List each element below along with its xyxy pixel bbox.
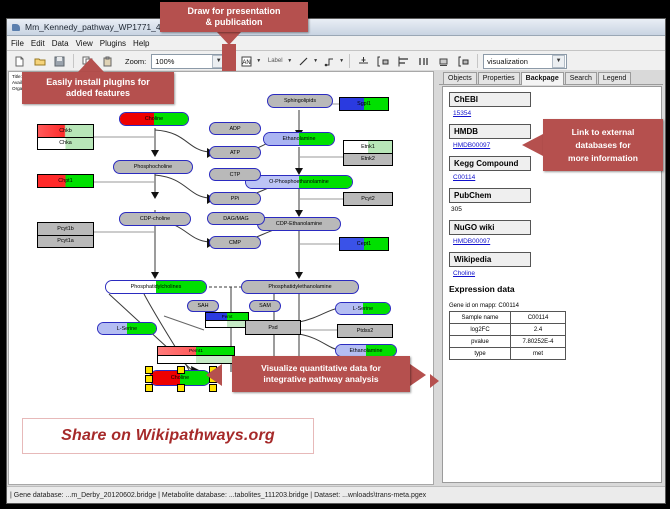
db-header-kegg: Kegg Compound <box>449 156 531 171</box>
db-link-chebi[interactable]: 15354 <box>453 110 661 117</box>
node-label: PPi <box>231 196 239 202</box>
callout-plugins-line1: Easily install plugins for <box>46 77 150 88</box>
gene-label-chka: Chka <box>59 140 72 146</box>
callout-draw-arrow-stem <box>222 44 236 71</box>
node-label: ATP <box>230 150 240 156</box>
gene-label: Cept1 <box>357 241 371 247</box>
gene-box-psd[interactable]: Psd <box>245 320 301 335</box>
gene-label-etnk1: Etnk1 <box>361 144 375 150</box>
gene-label: Psd <box>268 325 277 331</box>
chevron-down-icon-6[interactable]: ▼ <box>552 55 565 68</box>
gene-box-pemt-top[interactable]: Pemt <box>205 312 249 328</box>
menu-bar: File Edit Data View Plugins Help <box>7 36 665 51</box>
node-ctp[interactable]: CTP <box>209 168 261 181</box>
db-header-pubchem: PubChem <box>449 188 531 203</box>
node-label: Phosphatidylcholines <box>131 284 182 290</box>
side-panel-tabs: Objects Properties Backpage Search Legen… <box>439 71 663 85</box>
node-label: CDP-choline <box>140 216 170 222</box>
callout-visualize-arrow-left-icon <box>206 364 222 386</box>
resize-handle-w[interactable] <box>145 375 153 383</box>
gene-label: Pcyt2 <box>361 196 374 202</box>
callout-expression-arrow-icon <box>430 374 439 388</box>
gene-label: Pemt <box>222 314 233 319</box>
toolbar-separator-4 <box>477 54 478 68</box>
db-header-chebi: ChEBI <box>449 92 531 107</box>
callout-link: Link to external databases for more info… <box>543 119 663 171</box>
cell-value: 7.80252E-4 <box>511 336 566 348</box>
cell-value: 2.4 <box>511 324 566 336</box>
bracket-icon[interactable] <box>375 53 392 70</box>
title-bar: Mm_Kennedy_pathway_WP1771_45176.gpml <box>7 19 665 36</box>
status-bar: | Gene database: ...m_Derby_20120602.bri… <box>7 486 665 503</box>
db-header-nugo: NuGO wiki <box>449 220 531 235</box>
callout-draw-line2: & publication <box>206 17 263 28</box>
zoom-label: Zoom: <box>125 57 146 66</box>
toolbar-separator <box>73 54 74 68</box>
node-label: L-Serine <box>117 326 137 332</box>
callout-visualize-arrow-right-icon <box>410 364 426 386</box>
chevron-down-icon-3[interactable]: ▼ <box>287 58 292 64</box>
node-atp[interactable]: ATP <box>209 146 261 159</box>
chevron-down-icon-2[interactable]: ▼ <box>256 58 261 64</box>
gene-box-etnk[interactable]: Etnk1 Etnk2 <box>343 140 393 166</box>
node-label: Phosphatidylethanolamine <box>268 284 331 290</box>
node-sphingolipids[interactable]: Sphingolipids <box>267 94 333 108</box>
node-phosphatidylcholines[interactable]: Phosphatidylcholines <box>105 280 207 294</box>
line-icon[interactable] <box>295 53 312 70</box>
resize-handle-s[interactable] <box>177 384 185 392</box>
label-tool[interactable]: Label <box>264 53 286 70</box>
node-label: Sphingolipids <box>284 98 316 104</box>
callout-share: Share on Wikipathways.org <box>22 418 314 454</box>
gene-label-etnk2: Etnk2 <box>361 156 375 162</box>
node-label: Choline <box>171 375 189 381</box>
callout-plugins-arrow-icon <box>78 58 104 72</box>
gene-box-pemt-bottom[interactable]: Pemt1 <box>157 346 235 364</box>
node-label: DAG/MAG <box>223 216 248 222</box>
node-label: Phosphocholine <box>134 164 172 170</box>
tab-backpage[interactable]: Backpage <box>521 72 564 85</box>
svg-text:AN: AN <box>243 60 251 66</box>
visualization-combo[interactable]: visualization ▼ <box>483 54 567 69</box>
node-label: CTP <box>230 172 241 178</box>
gene-label: Ptdss2 <box>357 328 373 334</box>
menu-item-data[interactable]: Data <box>52 39 69 48</box>
callout-visualize: Visualize quantitative data for integrat… <box>232 356 410 392</box>
chevron-down-icon-4[interactable]: ▼ <box>313 58 318 64</box>
db-link-kegg[interactable]: C00114 <box>453 174 661 181</box>
menu-item-edit[interactable]: Edit <box>31 39 45 48</box>
node-sam[interactable]: SAM <box>249 300 281 312</box>
callout-draw-arrow-icon <box>216 31 242 45</box>
cell-value: C00114 <box>511 312 566 324</box>
callout-draw: Draw for presentation & publication <box>160 2 308 32</box>
callout-link-arrow-icon <box>522 134 543 156</box>
callout-draw-line1: Draw for presentation <box>187 6 280 17</box>
node-phosphocholine[interactable]: Phosphocholine <box>113 160 193 174</box>
cell-key: pvalue <box>450 336 511 348</box>
align-icon[interactable] <box>395 53 412 70</box>
open-folder-icon[interactable] <box>31 53 48 70</box>
node-label: L-Serine <box>353 306 373 312</box>
table-row: Sample name C00114 <box>450 312 566 324</box>
stack-icon[interactable] <box>435 53 452 70</box>
gene-box-sgpl1[interactable]: Sgpl1 <box>339 97 389 111</box>
connector-icon[interactable] <box>321 53 338 70</box>
db-header-wikipedia: Wikipedia <box>449 252 531 267</box>
node-l-serine-left[interactable]: L-Serine <box>97 322 157 335</box>
db-value-pubchem: 305 <box>451 206 661 213</box>
node-label: Ethanolamine <box>283 136 316 142</box>
node-sah[interactable]: SAH <box>187 300 219 312</box>
expression-data-title: Expression data <box>449 284 661 294</box>
node-label: CDP-Ethanolamine <box>276 221 322 227</box>
resize-handle-n[interactable] <box>177 366 185 374</box>
node-label: Ethanolamine <box>350 348 383 354</box>
gene-label-pcyt1a: Pcyt1a <box>57 238 73 244</box>
node-label: SAM <box>259 303 271 309</box>
node-label: ADP <box>229 126 240 132</box>
gene-box-chk[interactable]: Chkb Chka <box>37 124 94 150</box>
node-ethanolamine-top[interactable]: Ethanolamine <box>263 132 335 146</box>
node-label: O-Phosphoethanolamine <box>269 179 329 185</box>
tab-search[interactable]: Search <box>565 72 597 84</box>
node-adp[interactable]: ADP <box>209 122 261 135</box>
status-text: | Gene database: ...m_Derby_20120602.bri… <box>7 492 426 499</box>
cell-value: met <box>511 348 566 360</box>
gene-box-cept1[interactable]: Cept1 <box>339 237 389 251</box>
menu-item-file[interactable]: File <box>11 39 24 48</box>
group-icon[interactable] <box>455 53 472 70</box>
save-icon[interactable] <box>51 53 68 70</box>
gene-label: Chpt1 <box>58 178 72 184</box>
callout-link-line3: more information <box>568 152 638 165</box>
callout-link-line1: Link to external <box>572 126 635 139</box>
gene-box-pcyt2[interactable]: Pcyt2 <box>343 192 393 206</box>
callout-plugins: Easily install plugins for added feature… <box>22 72 174 104</box>
table-row: type met <box>450 348 566 360</box>
pathvisio-icon <box>11 22 22 33</box>
cell-key: type <box>450 348 511 360</box>
node-l-serine-right[interactable]: L-Serine <box>335 302 391 315</box>
gene-label: Pemt1 <box>189 349 203 354</box>
toolbar: Zoom: 100% ▼ AN ▼ Label ▼ ▼ <box>7 51 665 72</box>
gene-box-ptdss2[interactable]: Ptdss2 <box>337 324 393 338</box>
node-cdp-choline[interactable]: CDP-choline <box>119 212 191 226</box>
node-ppi[interactable]: PPi <box>209 192 261 205</box>
screenshot-root: Mm_Kennedy_pathway_WP1771_45176.gpml Fil… <box>0 0 670 509</box>
node-label: Choline <box>145 116 163 122</box>
tab-properties[interactable]: Properties <box>478 72 520 84</box>
resize-handle-nw[interactable] <box>145 366 153 374</box>
db-link-wikipedia[interactable]: Choline <box>453 270 661 277</box>
menu-item-help[interactable]: Help <box>133 39 149 48</box>
visualization-value: visualization <box>487 57 528 66</box>
callout-plugins-line2: added features <box>66 88 130 99</box>
zoom-value: 100% <box>155 57 174 66</box>
node-o-phosphoethanolamine[interactable]: O-Phosphoethanolamine <box>245 175 353 189</box>
gene-box-chpt1[interactable]: Chpt1 <box>37 174 94 188</box>
menu-item-plugins[interactable]: Plugins <box>100 39 126 48</box>
anchor-icon[interactable] <box>355 53 372 70</box>
menu-item-view[interactable]: View <box>76 39 93 48</box>
callout-share-text: Share on Wikipathways.org <box>61 427 275 445</box>
tab-objects[interactable]: Objects <box>443 72 477 84</box>
expression-data-table: Sample name C00114 log2FC 2.4 pvalue 7.8… <box>449 311 566 360</box>
new-file-icon[interactable] <box>11 53 28 70</box>
cell-key: Sample name <box>450 312 511 324</box>
gene-label: Sgpl1 <box>357 101 371 107</box>
gene-box-pcyt1[interactable]: Pcyt1b Pcyt1a <box>37 222 94 248</box>
gene-id-line: Gene id on mapp: C00114 <box>449 303 661 309</box>
chevron-down-icon-5[interactable]: ▼ <box>339 58 344 64</box>
callout-link-line2: databases for <box>575 139 630 152</box>
gene-label-pcyt1b: Pcyt1b <box>57 226 73 232</box>
node-choline-top[interactable]: Choline <box>119 112 189 126</box>
text-label-icon[interactable]: AN <box>238 53 255 70</box>
table-row: log2FC 2.4 <box>450 324 566 336</box>
zoom-combo[interactable]: 100% ▼ <box>151 54 227 69</box>
node-cdp-ethanolamine[interactable]: CDP-Ethanolamine <box>257 217 341 231</box>
resize-handle-sw[interactable] <box>145 384 153 392</box>
callout-visualize-line1: Visualize quantitative data for <box>261 363 381 374</box>
node-label: CMP <box>229 240 241 246</box>
toolbar-separator-3 <box>349 54 350 68</box>
db-link-nugo[interactable]: HMDB00097 <box>453 238 661 245</box>
cell-key: log2FC <box>450 324 511 336</box>
tab-legend[interactable]: Legend <box>598 72 631 84</box>
distribute-icon[interactable] <box>415 53 432 70</box>
node-dagmag[interactable]: DAG/MAG <box>207 212 265 225</box>
callout-visualize-line2: integrative pathway analysis <box>263 374 378 385</box>
node-cmp[interactable]: CMP <box>209 236 261 249</box>
node-label: SAH <box>197 303 208 309</box>
node-phosphatidylethanolamine[interactable]: Phosphatidylethanolamine <box>241 280 359 294</box>
table-row: pvalue 7.80252E-4 <box>450 336 566 348</box>
node-choline-selected[interactable]: Choline <box>149 370 211 386</box>
db-header-hmdb: HMDB <box>449 124 531 139</box>
gene-label-chkb: Chkb <box>59 128 72 134</box>
